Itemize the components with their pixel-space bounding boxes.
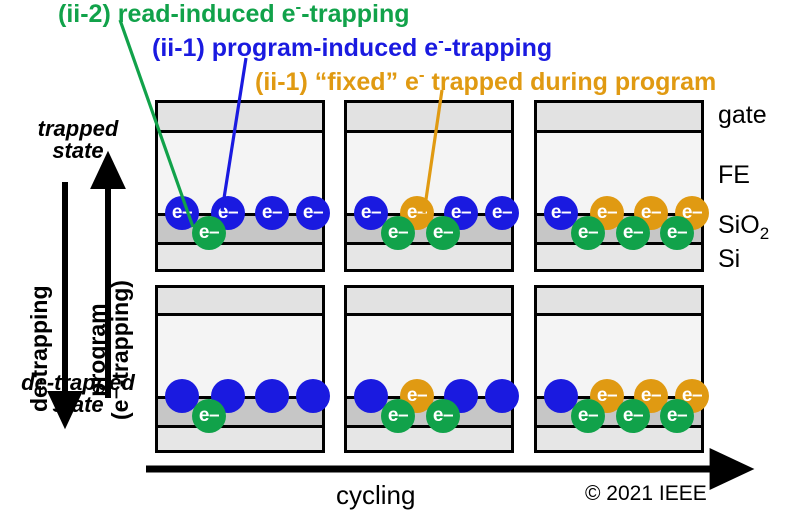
charge-glyph: e– <box>597 386 617 405</box>
charge-blue-interface: e– <box>485 379 519 413</box>
charge-green-oxide: e– <box>192 216 226 250</box>
stack-label-si: Si <box>718 247 740 272</box>
callout-fixed-trapped-during-program: (ii-1) “fixed” e- trapped during program <box>255 70 716 95</box>
callout-read-prefix: (ii-2) read-induced e <box>58 0 296 28</box>
layer-si <box>347 245 511 269</box>
charge-glyph: e– <box>623 406 643 425</box>
charge-blue-interface: e– <box>296 196 330 230</box>
callout-program-induced-trapping: (ii-1) program-induced e--trapping <box>152 36 552 61</box>
charge-blue-interface: e– <box>255 196 289 230</box>
charge-glyph: e– <box>218 203 238 222</box>
charge-glyph: e– <box>451 203 471 222</box>
layer-gate <box>158 103 322 133</box>
charge-glyph: e– <box>551 203 571 222</box>
charge-blue-interface: e– <box>296 379 330 413</box>
stack-label-fe: FE <box>718 163 750 188</box>
charge-glyph: e– <box>433 223 453 242</box>
layer-gate <box>537 103 701 133</box>
layer-gate <box>347 288 511 316</box>
charge-green-oxide: e– <box>426 216 460 250</box>
charge-green-oxide: e– <box>616 399 650 433</box>
charge-glyph: e– <box>361 203 381 222</box>
charge-glyph: e– <box>667 406 687 425</box>
stack-label-gate: gate <box>718 103 767 128</box>
charge-glyph: e– <box>388 223 408 242</box>
y-axis-program-trapping-label: program (e⁻-trapping) <box>86 280 132 420</box>
charge-blue-interface: e– <box>255 379 289 413</box>
charge-glyph: e– <box>578 406 598 425</box>
charge-glyph: e– <box>641 386 661 405</box>
charge-glyph: e– <box>641 203 661 222</box>
charge-glyph: e– <box>597 203 617 222</box>
charge-green-oxide: e– <box>660 216 694 250</box>
copyright-notice: © 2021 IEEE <box>585 482 707 506</box>
charge-green-oxide: e– <box>426 399 460 433</box>
y-axis-top-state-label: trapped state <box>8 118 148 163</box>
stack-label-sio2-text: SiO <box>718 211 760 239</box>
charge-glyph: e– <box>172 203 192 222</box>
layer-si <box>158 245 322 269</box>
charge-glyph: e– <box>199 406 219 425</box>
program-label-line2: (e⁻-trapping) <box>109 280 132 420</box>
charge-green-oxide: e– <box>660 399 694 433</box>
x-axis-cycling-label: cycling <box>336 480 415 511</box>
callout-read-induced-trapping: (ii-2) read-induced e--trapping <box>58 2 410 27</box>
charge-glyph: e– <box>303 203 323 222</box>
charge-blue-interface: e– <box>485 196 519 230</box>
stack-label-sio2-subscript: 2 <box>760 224 769 243</box>
figure-canvas: (ii-2) read-induced e--trapping (ii-1) p… <box>0 0 796 512</box>
layer-si <box>347 428 511 450</box>
charge-glyph: e– <box>262 203 282 222</box>
y-axis-detrapping-label: de-trapping <box>28 286 51 413</box>
charge-glyph: e– <box>492 203 512 222</box>
layer-gate <box>347 103 511 133</box>
device-cell-de-trapped-3: e–e–e–e–e–e–e– <box>534 285 704 453</box>
charge-green-oxide: e– <box>381 216 415 250</box>
charge-glyph: e– <box>407 386 427 405</box>
device-cell-trapped-1: e–e–e–e–e– <box>155 100 325 272</box>
layer-gate <box>158 288 322 316</box>
device-cell-trapped-3: e–e–e–e–e–e–e– <box>534 100 704 272</box>
charge-glyph: e– <box>667 223 687 242</box>
charge-glyph: e– <box>199 223 219 242</box>
charge-glyph: e– <box>388 406 408 425</box>
callout-fixed-suffix: trapped during program <box>425 68 717 96</box>
callout-program-prefix: (ii-1) program-induced e <box>152 34 438 62</box>
charge-green-oxide: e– <box>571 216 605 250</box>
layer-gate <box>537 288 701 316</box>
callout-read-suffix: -trapping <box>301 0 409 28</box>
charge-green-oxide: e– <box>381 399 415 433</box>
charge-glyph: e– <box>407 203 427 222</box>
charge-glyph: e– <box>433 406 453 425</box>
device-cell-de-trapped-2: e–e–e–e–e–e– <box>344 285 514 453</box>
charge-glyph: e– <box>578 223 598 242</box>
charge-green-oxide: e– <box>192 399 226 433</box>
callout-fixed-prefix: (ii-1) “fixed” e <box>255 68 419 96</box>
device-cell-de-trapped-1: e–e–e–e–e– <box>155 285 325 453</box>
device-cell-trapped-2: e–e–e–e–e–e– <box>344 100 514 272</box>
charge-green-oxide: e– <box>616 216 650 250</box>
layer-si <box>158 428 322 450</box>
stack-label-sio2: SiO2 <box>718 213 769 242</box>
callout-program-suffix: -trapping <box>444 34 552 62</box>
charge-green-oxide: e– <box>571 399 605 433</box>
charge-glyph: e– <box>623 223 643 242</box>
